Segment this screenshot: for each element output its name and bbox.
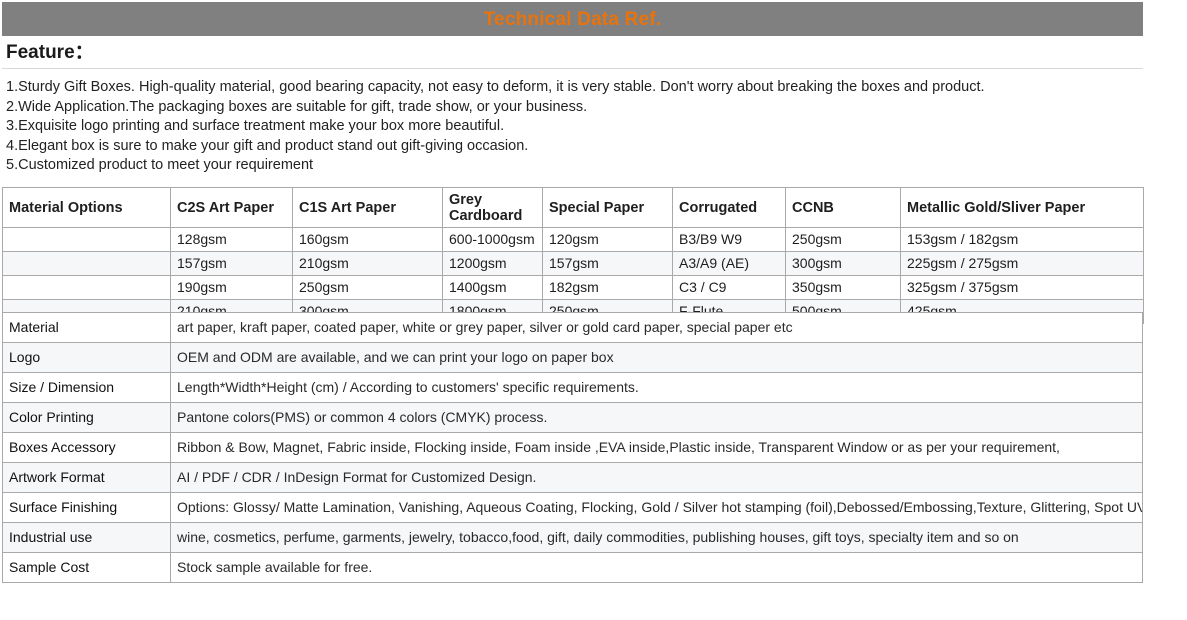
material-cell: A3/A9 (AE) xyxy=(673,252,786,276)
feature-line: 5.Customized product to meet your requir… xyxy=(6,156,1143,176)
feature-line: 2.Wide Application.The packaging boxes a… xyxy=(6,98,1143,118)
spec-label: Boxes Accessory xyxy=(3,433,171,463)
table-row: 190gsm250gsm1400gsm182gsmC3 / C9350gsm32… xyxy=(3,276,1144,300)
material-column-header: CCNB xyxy=(786,188,901,228)
material-cell xyxy=(3,228,171,252)
feature-heading: Feature： xyxy=(2,43,94,62)
material-column-header: Material Options xyxy=(3,188,171,228)
table-row: LogoOEM and ODM are available, and we ca… xyxy=(3,343,1143,373)
material-column-header: C1S Art Paper xyxy=(293,188,443,228)
material-cell: 250gsm xyxy=(786,228,901,252)
page-title: Technical Data Ref. xyxy=(484,10,662,29)
feature-line: 1.Sturdy Gift Boxes. High-quality materi… xyxy=(6,78,1143,98)
material-cell: 600-1000gsm xyxy=(443,228,543,252)
spec-value: Options: Glossy/ Matte Lamination, Vanis… xyxy=(171,493,1143,523)
material-cell: 225gsm / 275gsm xyxy=(901,252,1144,276)
table-row: Color PrintingPantone colors(PMS) or com… xyxy=(3,403,1143,433)
spec-value: AI / PDF / CDR / InDesign Format for Cus… xyxy=(171,463,1143,493)
material-header-row: Material OptionsC2S Art PaperC1S Art Pap… xyxy=(3,188,1144,228)
table-row: Boxes AccessoryRibbon & Bow, Magnet, Fab… xyxy=(3,433,1143,463)
material-column-header: C2S Art Paper xyxy=(171,188,293,228)
material-cell: C3 / C9 xyxy=(673,276,786,300)
feature-line: 3.Exquisite logo printing and surface tr… xyxy=(6,117,1143,137)
spec-value: Stock sample available for free. xyxy=(171,553,1143,583)
material-cell: 210gsm xyxy=(293,252,443,276)
material-cell: 325gsm / 375gsm xyxy=(901,276,1144,300)
material-cell: 160gsm xyxy=(293,228,443,252)
material-column-header: Corrugated xyxy=(673,188,786,228)
material-cell xyxy=(3,252,171,276)
spec-value: art paper, kraft paper, coated paper, wh… xyxy=(171,313,1143,343)
material-cell: 250gsm xyxy=(293,276,443,300)
feature-list: 1.Sturdy Gift Boxes. High-quality materi… xyxy=(2,70,1143,182)
table-row: Surface FinishingOptions: Glossy/ Matte … xyxy=(3,493,1143,523)
spec-label: Logo xyxy=(3,343,171,373)
table-row: 157gsm210gsm1200gsm157gsmA3/A9 (AE)300gs… xyxy=(3,252,1144,276)
material-cell xyxy=(3,276,171,300)
material-cell: B3/B9 W9 xyxy=(673,228,786,252)
spec-table-body: Materialart paper, kraft paper, coated p… xyxy=(3,313,1143,583)
spec-value: Ribbon & Bow, Magnet, Fabric inside, Flo… xyxy=(171,433,1143,463)
material-cell: 120gsm xyxy=(543,228,673,252)
material-cell: 350gsm xyxy=(786,276,901,300)
table-row: Artwork FormatAI / PDF / CDR / InDesign … xyxy=(3,463,1143,493)
material-cell: 128gsm xyxy=(171,228,293,252)
material-cell: 157gsm xyxy=(543,252,673,276)
title-banner: Technical Data Ref. xyxy=(2,2,1143,36)
spec-value: wine, cosmetics, perfume, garments, jewe… xyxy=(171,523,1143,553)
table-row: Industrial usewine, cosmetics, perfume, … xyxy=(3,523,1143,553)
spec-label: Material xyxy=(3,313,171,343)
spec-value: OEM and ODM are available, and we can pr… xyxy=(171,343,1143,373)
spec-value: Pantone colors(PMS) or common 4 colors (… xyxy=(171,403,1143,433)
material-cell: 157gsm xyxy=(171,252,293,276)
spec-label: Size / Dimension xyxy=(3,373,171,403)
material-options-table: Material OptionsC2S Art PaperC1S Art Pap… xyxy=(2,187,1144,324)
table-row: Materialart paper, kraft paper, coated p… xyxy=(3,313,1143,343)
material-cell: 153gsm / 182gsm xyxy=(901,228,1144,252)
material-table-head: Material OptionsC2S Art PaperC1S Art Pap… xyxy=(3,188,1144,228)
material-column-header: Special Paper xyxy=(543,188,673,228)
material-cell: 1200gsm xyxy=(443,252,543,276)
material-column-header: Metallic Gold/Sliver Paper xyxy=(901,188,1144,228)
material-cell: 182gsm xyxy=(543,276,673,300)
material-column-header: Grey Cardboard xyxy=(443,188,543,228)
spec-value: Length*Width*Height (cm) / According to … xyxy=(171,373,1143,403)
table-row: 128gsm160gsm600-1000gsm120gsmB3/B9 W9250… xyxy=(3,228,1144,252)
spec-label: Color Printing xyxy=(3,403,171,433)
technical-data-page: Technical Data Ref. Feature： 1.Sturdy Gi… xyxy=(0,0,1187,620)
material-cell: 300gsm xyxy=(786,252,901,276)
specification-table: Materialart paper, kraft paper, coated p… xyxy=(2,312,1143,583)
feature-heading-bar: Feature： xyxy=(2,36,1143,69)
material-cell: 1400gsm xyxy=(443,276,543,300)
spec-label: Industrial use xyxy=(3,523,171,553)
spec-label: Artwork Format xyxy=(3,463,171,493)
material-table-body: 128gsm160gsm600-1000gsm120gsmB3/B9 W9250… xyxy=(3,228,1144,324)
table-row: Sample CostStock sample available for fr… xyxy=(3,553,1143,583)
table-row: Size / DimensionLength*Width*Height (cm)… xyxy=(3,373,1143,403)
feature-line: 4.Elegant box is sure to make your gift … xyxy=(6,137,1143,157)
spec-label: Surface Finishing xyxy=(3,493,171,523)
spec-label: Sample Cost xyxy=(3,553,171,583)
material-cell: 190gsm xyxy=(171,276,293,300)
